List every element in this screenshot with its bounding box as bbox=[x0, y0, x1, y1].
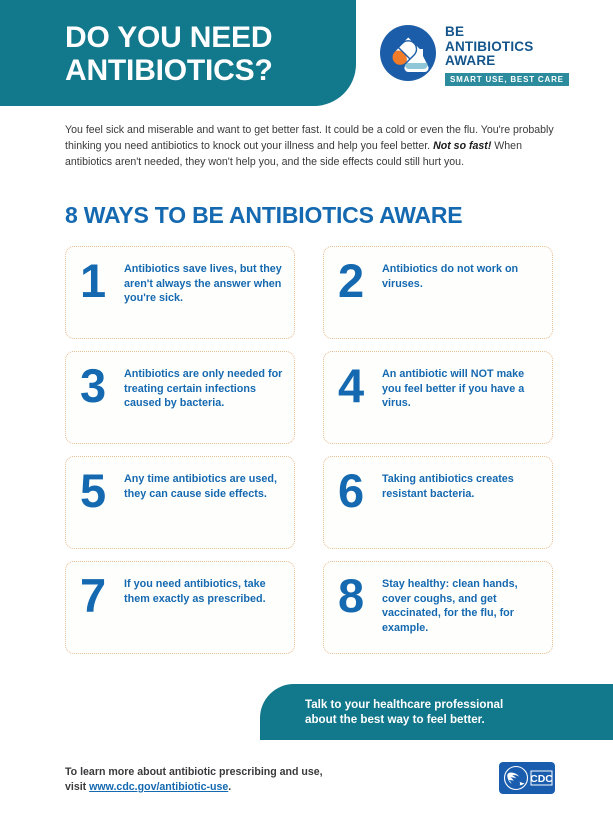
card-number: 2 bbox=[338, 258, 382, 303]
intro-emphasis: Not so fast! bbox=[433, 140, 491, 152]
way-card-3: 3 Antibiotics are only needed for treati… bbox=[65, 351, 295, 444]
card-number: 6 bbox=[338, 468, 382, 513]
way-card-5: 5 Any time antibiotics are used, they ca… bbox=[65, 456, 295, 549]
healthcare-professional-callout: Talk to your healthcare professional abo… bbox=[260, 684, 613, 740]
way-card-8: 8 Stay healthy: clean hands, cover cough… bbox=[323, 561, 553, 654]
svg-text:CDC: CDC bbox=[530, 773, 553, 785]
card-text: An antibiotic will NOT make you feel bet… bbox=[382, 362, 542, 411]
card-text: Any time antibiotics are used, they can … bbox=[124, 467, 284, 501]
card-text: Antibiotics do not work on viruses. bbox=[382, 257, 542, 291]
card-number: 8 bbox=[338, 573, 382, 618]
footer-text: To learn more about antibiotic prescribi… bbox=[65, 765, 323, 795]
footer-visit-label: visit bbox=[65, 781, 89, 793]
way-card-1: 1 Antibiotics save lives, but they aren'… bbox=[65, 246, 295, 339]
way-card-4: 4 An antibiotic will NOT make you feel b… bbox=[323, 351, 553, 444]
way-card-6: 6 Taking antibiotics creates resistant b… bbox=[323, 456, 553, 549]
intro-paragraph: You feel sick and miserable and want to … bbox=[65, 122, 555, 171]
cdc-hhs-logo-icon: CDC bbox=[499, 762, 555, 794]
cdc-antibiotic-use-link[interactable]: www.cdc.gov/antibiotic-use bbox=[89, 781, 228, 793]
section-heading: 8 WAYS TO BE ANTIBIOTICS AWARE bbox=[65, 202, 462, 229]
way-card-7: 7 If you need antibiotics, take them exa… bbox=[65, 561, 295, 654]
footer-period: . bbox=[228, 781, 231, 793]
pill-capsule-flask-badge-icon bbox=[379, 24, 437, 82]
card-number: 4 bbox=[338, 363, 382, 408]
footer-line-2: visit www.cdc.gov/antibiotic-use. bbox=[65, 780, 323, 795]
card-number: 5 bbox=[80, 468, 124, 513]
card-text: Antibiotics are only needed for treating… bbox=[124, 362, 284, 411]
logo-tagline: SMART USE, BEST CARE bbox=[445, 73, 569, 86]
logo-line-aware: AWARE bbox=[445, 54, 569, 69]
page-header: DO YOU NEED ANTIBIOTICS? BE ANTIBIOTICS … bbox=[0, 0, 613, 106]
logo-wordmark: BE ANTIBIOTICS AWARE SMART USE, BEST CAR… bbox=[445, 25, 569, 87]
page-footer: To learn more about antibiotic prescribi… bbox=[65, 765, 555, 795]
card-text: Stay healthy: clean hands, cover coughs,… bbox=[382, 572, 542, 635]
way-card-2: 2 Antibiotics do not work on viruses. bbox=[323, 246, 553, 339]
ways-card-grid: 1 Antibiotics save lives, but they aren'… bbox=[65, 246, 553, 654]
card-text: Taking antibiotics creates resistant bac… bbox=[382, 467, 542, 501]
footer-line-1: To learn more about antibiotic prescribi… bbox=[65, 765, 323, 780]
card-text: Antibiotics save lives, but they aren't … bbox=[124, 257, 284, 306]
logo-line-antibiotics: ANTIBIOTICS bbox=[445, 40, 569, 55]
logo-line-be: BE bbox=[445, 25, 569, 40]
card-number: 3 bbox=[80, 363, 124, 408]
card-number: 7 bbox=[80, 573, 124, 618]
card-text: If you need antibiotics, take them exact… bbox=[124, 572, 284, 606]
page-title: DO YOU NEED ANTIBIOTICS? bbox=[65, 21, 273, 87]
be-antibiotics-aware-logo: BE ANTIBIOTICS AWARE SMART USE, BEST CAR… bbox=[379, 24, 569, 87]
card-number: 1 bbox=[80, 258, 124, 303]
callout-text: Talk to your healthcare professional abo… bbox=[305, 697, 503, 728]
